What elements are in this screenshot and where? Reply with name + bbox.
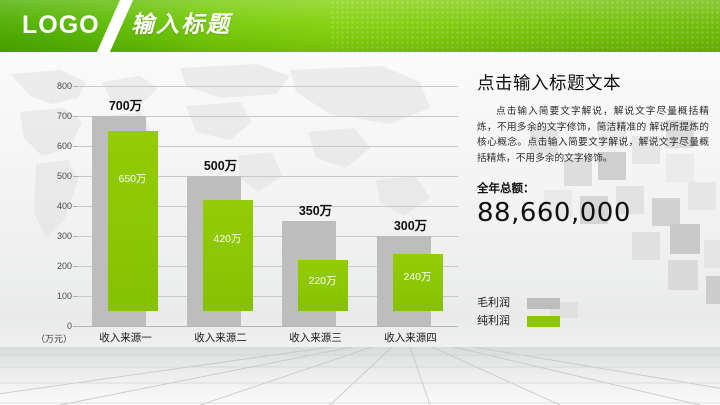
chart-tick-mark (73, 176, 78, 177)
chart-unit-label: （万元） (36, 334, 72, 345)
bar-value-label: 420万 (203, 233, 253, 245)
header-bar: LOGO 输入标题 (0, 0, 720, 52)
perspective-floor-grid (0, 347, 720, 405)
chart-gridline (78, 86, 458, 87)
legend-item-label: 毛利润 (477, 296, 519, 310)
chart-y-tick-label: 200 (40, 261, 72, 271)
bar-net-profit (203, 200, 253, 311)
legend-item-label: 纯利润 (477, 314, 519, 328)
chart-tick-mark (73, 266, 78, 267)
chart-y-tick-label: 700 (40, 111, 72, 121)
text-panel: 点击输入标题文本 点击输入简要文字解说，解说文字尽量概括精炼，不用多余的文字修饰… (477, 72, 709, 228)
chart-y-tick-label: 100 (40, 291, 72, 301)
chart-tick-mark (73, 296, 78, 297)
bar-top-label: 700万 (71, 99, 181, 113)
chart-tick-mark (73, 86, 78, 87)
panel-title: 点击输入标题文本 (477, 72, 709, 94)
total-value: 88,660,000 (477, 198, 709, 228)
chart-tick-mark (73, 206, 78, 207)
chart-category-label: 收入来源一 (76, 332, 176, 345)
legend-swatch (527, 298, 560, 309)
chart-y-tick-label: 500 (40, 171, 72, 181)
logo: LOGO (22, 10, 100, 40)
chart-tick-mark (73, 146, 78, 147)
bar-chart: 8007006005004003002001000（万元） 700万650万50… (38, 80, 468, 345)
chart-y-tick-label: 0 (40, 321, 72, 331)
bar-value-label: 240万 (393, 271, 443, 283)
total-label: 全年总额： (477, 182, 709, 197)
chart-y-tick-label: 600 (40, 141, 72, 151)
bar-top-label: 500万 (166, 159, 276, 173)
chart-y-tick-label: 400 (40, 201, 72, 211)
chart-legend: 毛利润纯利润 (477, 294, 677, 330)
chart-tick-mark (73, 116, 78, 117)
bar-value-label: 650万 (108, 173, 158, 185)
chart-category-label: 收入来源三 (266, 332, 366, 345)
chart-y-tick-label: 300 (40, 231, 72, 241)
chart-tick-mark (73, 326, 78, 327)
legend-item: 毛利润 (477, 294, 677, 312)
chart-category-label: 收入来源二 (171, 332, 271, 345)
legend-swatch (527, 316, 560, 327)
chart-y-tick-label: 800 (40, 81, 72, 91)
panel-body-text: 点击输入简要文字解说，解说文字尽量概括精炼，不用多余的文字修饰，简洁精准的 解说… (477, 104, 709, 166)
header-title: 输入标题 (131, 9, 231, 41)
bar-top-label: 350万 (261, 204, 371, 218)
bar-top-label: 300万 (356, 219, 466, 233)
bar-net-profit (108, 131, 158, 311)
chart-category-label: 收入来源四 (361, 332, 461, 345)
slide-canvas: LOGO 输入标题 8007006005004003002001000（万元） … (0, 0, 720, 405)
legend-item: 纯利润 (477, 312, 677, 330)
bar-value-label: 220万 (298, 275, 348, 287)
chart-gridline (78, 326, 458, 327)
chart-tick-mark (73, 236, 78, 237)
